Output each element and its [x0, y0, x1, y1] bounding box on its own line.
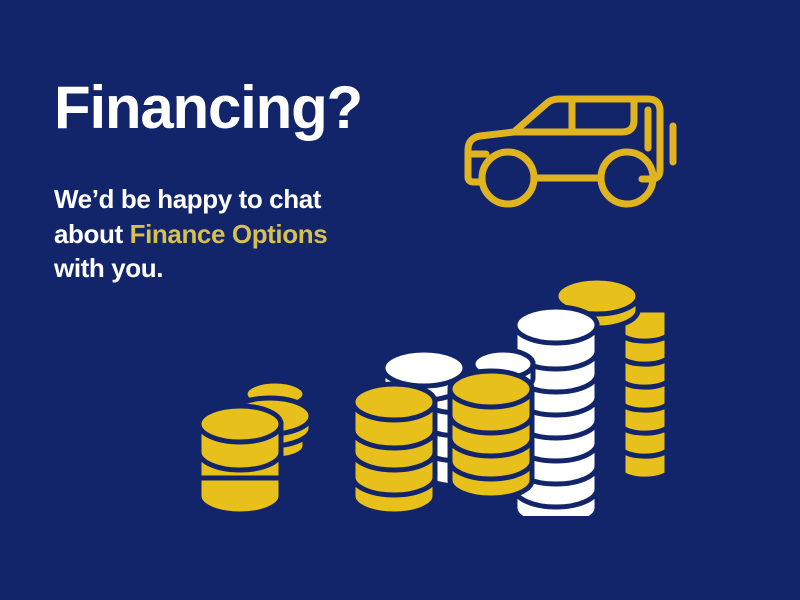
- stack-1: [199, 381, 311, 514]
- coin-stacks-illustration: [185, 268, 715, 516]
- suv-line-icon: [452, 82, 702, 217]
- coin-stacks-svg: [185, 268, 715, 516]
- body-copy: We’d be happy to chat about Finance Opti…: [54, 138, 354, 286]
- page-title: Financing?: [54, 78, 414, 138]
- front-wheel-icon: [482, 152, 534, 204]
- body-copy-accent: Finance Options: [130, 219, 328, 249]
- body-copy-suffix: with you.: [54, 253, 163, 283]
- slide-canvas: Financing? We’d be happy to chat about F…: [0, 0, 800, 600]
- stack-3: [450, 278, 667, 516]
- text-block: Financing? We’d be happy to chat about F…: [54, 78, 414, 286]
- car-illustration: [452, 82, 702, 217]
